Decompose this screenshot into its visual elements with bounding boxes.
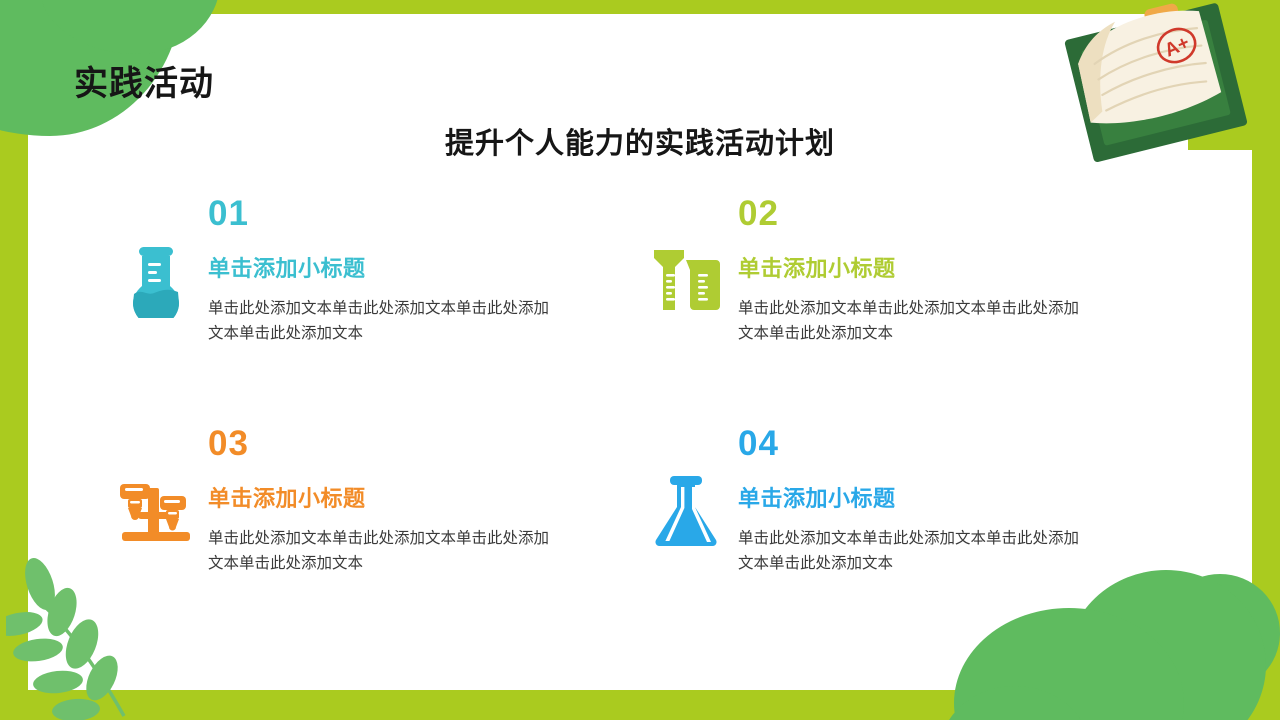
list-item-body: 02 单击添加小标题 单击此处添加文本单击此处添加文本单击此处添加文本单击此处添… (738, 196, 1118, 346)
item-number: 02 (738, 196, 1118, 231)
beaker-right-icon (686, 260, 720, 310)
main-heading: 提升个人能力的实践活动计划 (0, 120, 1280, 162)
item-subtitle: 单击添加小标题 (208, 251, 588, 283)
leaf-icon (6, 608, 45, 640)
list-item-body: 04 单击添加小标题 单击此处添加文本单击此处添加文本单击此处添加文本单击此处添… (738, 426, 1118, 576)
list-item[interactable]: 03 单击添加小标题 单击此处添加文本单击此处添加文本单击此处添加文本单击此处添… (118, 426, 588, 576)
list-item-body: 03 单击添加小标题 单击此处添加文本单击此处添加文本单击此处添加文本单击此处添… (208, 426, 588, 576)
test-tube-icon (118, 242, 194, 318)
item-subtitle: 单击添加小标题 (738, 481, 1118, 513)
leaf-icon (32, 668, 84, 695)
list-item[interactable]: 02 单击添加小标题 单击此处添加文本单击此处添加文本单击此处添加文本单击此处添… (648, 196, 1118, 346)
page-title: 实践活动 (74, 56, 214, 105)
item-description: 单击此处添加文本单击此处添加文本单击此处添加文本单击此处添加文本 (738, 526, 1084, 576)
item-number: 03 (208, 426, 588, 461)
test-tube-liquid-icon (133, 290, 179, 318)
microscope-icon (118, 472, 194, 548)
list-item[interactable]: 04 单击添加小标题 单击此处添加文本单击此处添加文本单击此处添加文本单击此处添… (648, 426, 1118, 576)
item-description: 单击此处添加文本单击此处添加文本单击此处添加文本单击此处添加文本 (738, 296, 1084, 346)
microscope-eyepiece-left-icon (120, 484, 150, 499)
leaf-icon (12, 636, 65, 665)
list-item-body: 01 单击添加小标题 单击此处添加文本单击此处添加文本单击此处添加文本单击此处添… (208, 196, 588, 346)
flask-rim-icon (670, 476, 702, 485)
microscope-lens-right-icon (166, 519, 179, 531)
item-subtitle: 单击添加小标题 (738, 251, 1118, 283)
slide-canvas: A+ 实践活动 提升个人能力的实践活动计划 (0, 0, 1280, 720)
test-tube-rim-icon (139, 247, 173, 256)
microscope-stage-icon (138, 512, 170, 519)
item-description: 单击此处添加文本单击此处添加文本单击此处添加文本单击此处添加文本 (208, 296, 556, 346)
list-item[interactable]: 01 单击添加小标题 单击此处添加文本单击此处添加文本单击此处添加文本单击此处添… (118, 196, 588, 346)
item-number: 04 (738, 426, 1118, 461)
beakers-icon (648, 242, 724, 318)
item-number: 01 (208, 196, 588, 231)
leaf-icon (51, 697, 100, 720)
item-subtitle: 单击添加小标题 (208, 481, 588, 513)
conical-flask-icon (648, 472, 724, 548)
item-description: 单击此处添加文本单击此处添加文本单击此处添加文本单击此处添加文本 (208, 526, 556, 576)
